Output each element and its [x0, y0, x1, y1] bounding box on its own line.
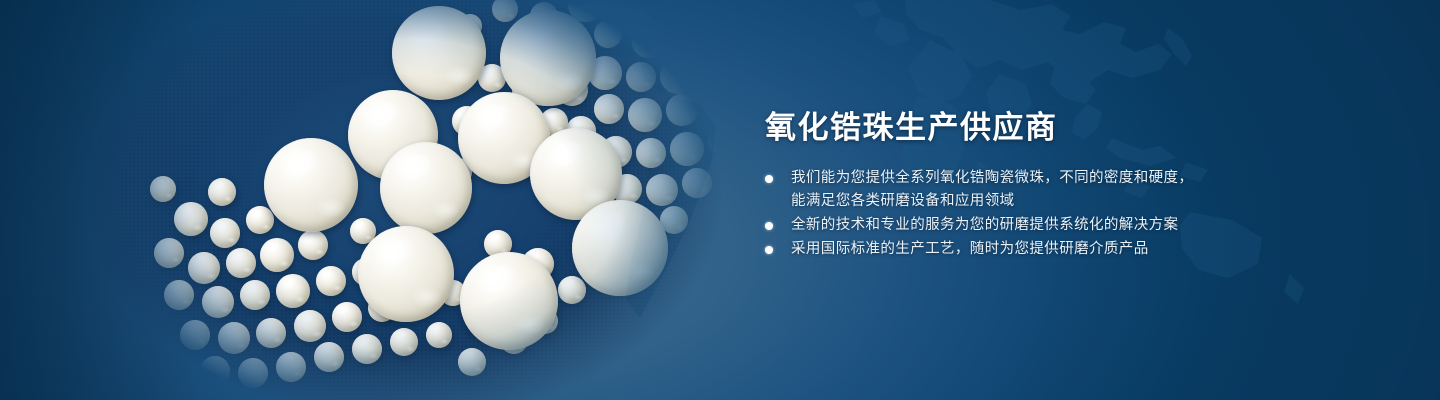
filled-circle-bullet-icon: [765, 246, 773, 254]
list-item: 采用国际标准的生产工艺，随时为您提供研磨介质产品: [765, 238, 1285, 261]
list-item-label: 我们能为您提供全系列氧化锆陶瓷微珠，不同的密度和硬度，能满足您各类研磨设备和应用…: [791, 170, 1193, 209]
zirconia-beads-photo: [60, 0, 760, 400]
bead-cluster: [60, 0, 760, 400]
hero-banner: 氧化锆珠生产供应商 我们能为您提供全系列氧化锆陶瓷微珠，不同的密度和硬度，能满足…: [0, 0, 1440, 400]
banner-copy: 氧化锆珠生产供应商 我们能为您提供全系列氧化锆陶瓷微珠，不同的密度和硬度，能满足…: [765, 108, 1285, 262]
filled-circle-bullet-icon: [765, 175, 773, 183]
page-title: 氧化锆珠生产供应商: [765, 108, 1285, 148]
list-item: 我们能为您提供全系列氧化锆陶瓷微珠，不同的密度和硬度，能满足您各类研磨设备和应用…: [765, 167, 1285, 213]
list-item-label: 采用国际标准的生产工艺，随时为您提供研磨介质产品: [791, 241, 1149, 257]
list-item: 全新的技术和专业的服务为您的研磨提供系统化的解决方案: [765, 214, 1285, 237]
feature-list: 我们能为您提供全系列氧化锆陶瓷微珠，不同的密度和硬度，能满足您各类研磨设备和应用…: [765, 167, 1285, 261]
filled-circle-bullet-icon: [765, 222, 773, 230]
list-item-label: 全新的技术和专业的服务为您的研磨提供系统化的解决方案: [791, 217, 1178, 233]
